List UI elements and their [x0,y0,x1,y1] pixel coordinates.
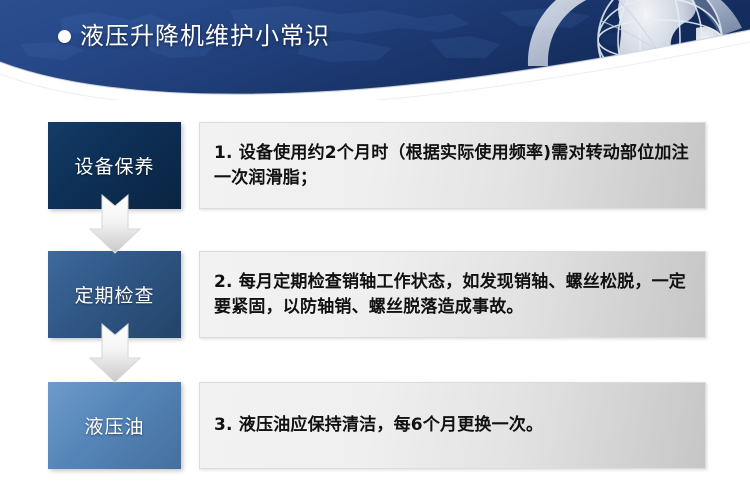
flow-label-text-2: 定期检查 [74,281,154,308]
flow-content-box-3[interactable]: 3. 液压油应保持清洁，每6个月更换一次。 [199,382,706,469]
flow-content-text-3: 3. 液压油应保持清洁，每6个月更换一次。 [214,413,543,438]
page-title: 液压升降机维护小常识 [80,24,330,48]
flow-content-text-2: 2. 每月定期检查销轴工作状态，如发现销轴、螺丝松脱，一定要紧固，以防轴销、螺丝… [214,270,691,319]
flow-label-text-1: 设备保养 [74,152,154,179]
flow-content-box-1[interactable]: 1. 设备使用约2个月时（根据实际使用频率)需对转动部位加注一次润滑脂； [199,122,706,209]
header-banner: 液压升降机维护小常识 [0,0,750,100]
flow-row-3: 液压油 3. 液压油应保持清洁，每6个月更换一次。 [0,382,750,469]
arrow-down-icon [86,193,144,255]
flow-content-text-1: 1. 设备使用约2个月时（根据实际使用频率)需对转动部位加注一次润滑脂； [214,141,691,190]
flow-content-box-2[interactable]: 2. 每月定期检查销轴工作状态，如发现销轴、螺丝松脱，一定要紧固，以防轴销、螺丝… [199,251,706,338]
arrow-down-icon [86,322,144,384]
wave-divider-icon [0,0,750,100]
page-title-row: 液压升降机维护小常识 [58,24,330,48]
bullet-dot-icon [58,30,71,43]
flow-label-text-3: 液压油 [84,412,144,439]
flow-label-box-3[interactable]: 液压油 [48,382,181,469]
